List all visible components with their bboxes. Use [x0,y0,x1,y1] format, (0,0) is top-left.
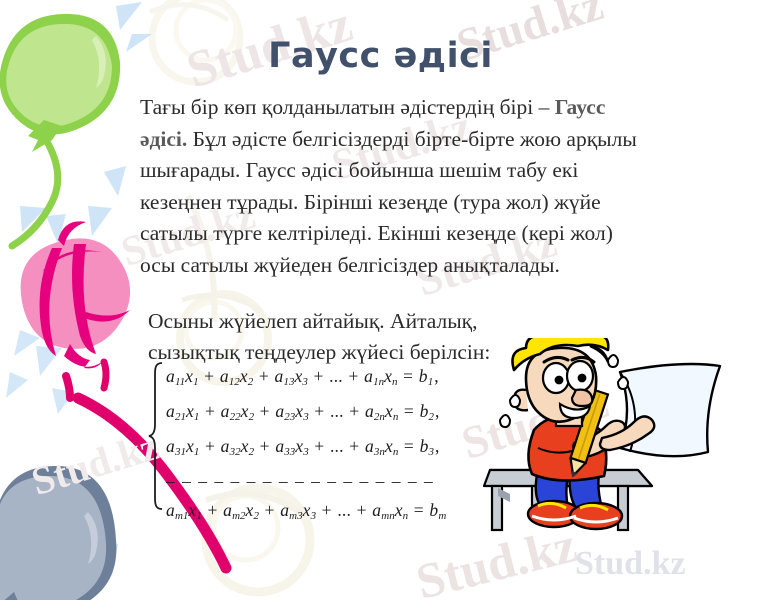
illustration-boy-chewing-pencil [452,338,758,534]
paragraph-intro-rest: Бұл әдісте белгісіздерді бірте-бірте жою… [140,127,637,277]
body-text-block: Тағы бір көп қолданылатын әдістердің бір… [140,92,640,281]
shoes [528,501,622,529]
equation-row: a31x1 + a32x2 + a33x3 + ... + a3nxn = b3… [166,432,446,467]
balloon-pink [21,221,130,388]
equation-system: a11x1 + a12x2 + a13x3 + ... + a1nxn = b1… [148,362,446,531]
slide-canvas: Stud.kz Stud.kz Stud.kz Stud.kz Stud.kz … [0,0,761,600]
balloon-gray [0,466,116,600]
equation-rows: a11x1 + a12x2 + a13x3 + ... + a1nxn = b1… [166,362,446,531]
equation-row: a21x1 + a22x2 + a23x3 + ... + a2nxn = b2… [166,397,446,432]
equation-row: a11x1 + a12x2 + a13x3 + ... + a1nxn = b1… [166,362,446,397]
left-brace-icon [148,362,164,531]
paragraph-intro: Тағы бір көп қолданылатын әдістердің бір… [140,92,640,281]
equation-separator: – – – – – – – – – – – – – – – – – [166,467,446,496]
equation-row: am1x1 + am2x2 + am3x3 + ... + amnxn = bm [166,496,446,531]
paragraph-intro-lead: Тағы бір көп қолданылатын әдістердің бір… [140,95,555,119]
page-title: Гаусс әдісі [0,36,761,76]
